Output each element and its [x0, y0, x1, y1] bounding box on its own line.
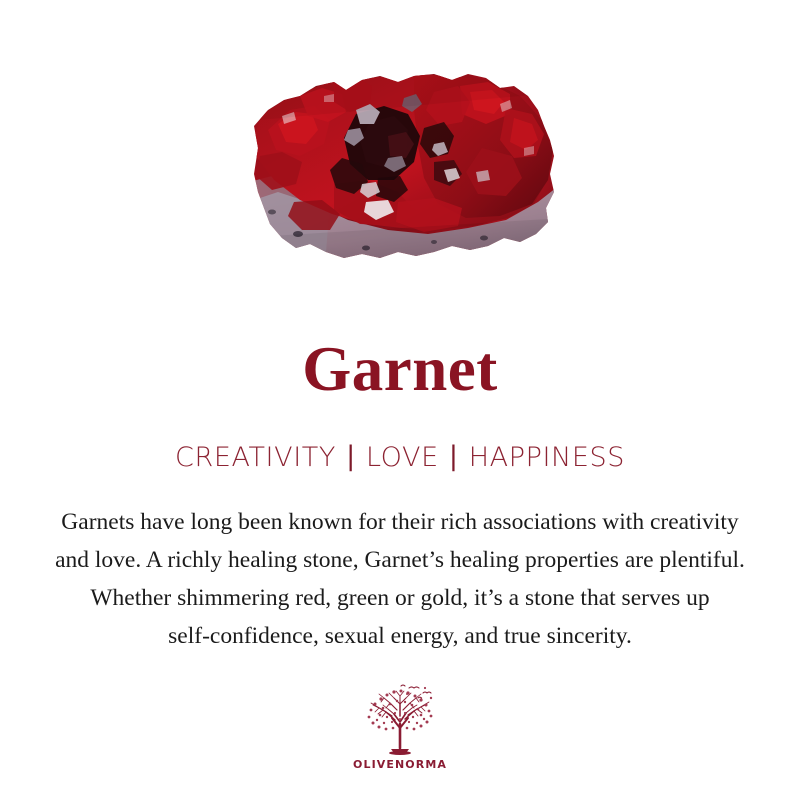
- description-line: and love. A richly healing stone, Garnet…: [22, 541, 778, 579]
- description-line: Whether shimmering red, green or gold, i…: [22, 579, 778, 617]
- description-line: Garnets have long been known for their r…: [22, 503, 778, 541]
- keyword-separator: |: [336, 441, 366, 472]
- stone-image-container: [0, 0, 800, 320]
- brand-wordmark: OLIVENORMA: [0, 758, 800, 771]
- keyword-happiness: HAPPINESS: [469, 442, 625, 473]
- description-line: self-confidence, sexual energy, and true…: [22, 617, 778, 655]
- keyword-list: CREATIVITY|LOVE|HAPPINESS: [0, 442, 800, 473]
- garnet-specimen-image: [238, 52, 564, 278]
- description-paragraph: Garnets have long been known for their r…: [22, 503, 778, 655]
- keyword-separator: |: [439, 441, 469, 472]
- page-title: Garnet: [0, 336, 800, 402]
- tree-logo-icon: [361, 684, 439, 756]
- gemstone-info-card: Garnet CREATIVITY|LOVE|HAPPINESS Garnets…: [0, 0, 800, 800]
- keyword-love: LOVE: [366, 442, 439, 473]
- keyword-creativity: CREATIVITY: [175, 442, 336, 473]
- brand-logo: OLIVENORMA: [0, 684, 800, 771]
